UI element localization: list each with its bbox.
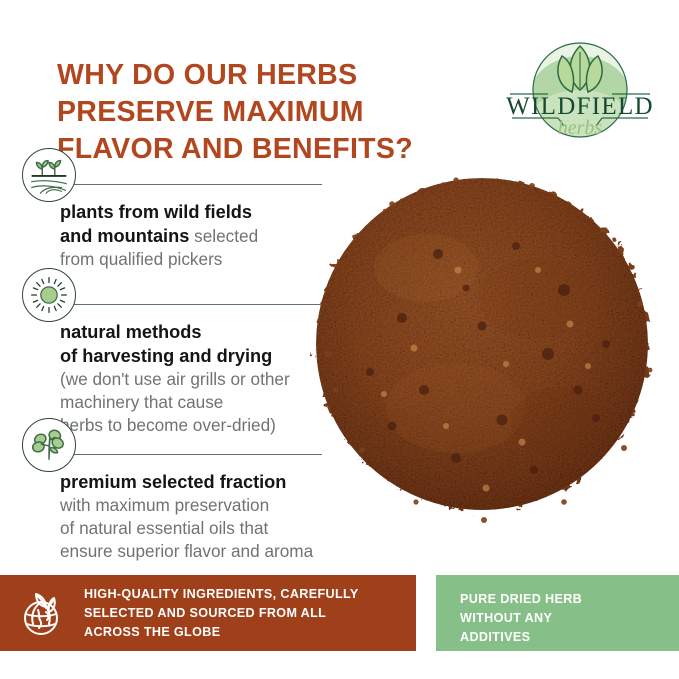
- feature-divider: [48, 454, 322, 455]
- banner-right-text: Pure dried herb without any additives: [460, 590, 669, 647]
- herb-mound-texture: [316, 178, 648, 510]
- banner-pure-dried-herb: Pure dried herb without any additives: [436, 575, 679, 651]
- banner-line: without any: [460, 609, 669, 628]
- sprouts-field-icon: [22, 148, 76, 202]
- banner-global-sourcing: High-quality ingredients, carefully sele…: [0, 575, 416, 651]
- banner-left-text: High-quality ingredients, carefully sele…: [84, 585, 359, 642]
- banner-line: additives: [460, 628, 669, 647]
- page-title: Why do our herbs preserve maximum flavor…: [57, 57, 487, 167]
- banner-line: selected and sourced from all: [84, 604, 359, 623]
- infographic-page: Why do our herbs preserve maximum flavor…: [0, 0, 679, 679]
- banner-line: High-quality ingredients, carefully: [84, 585, 359, 604]
- headline-line-1: Why do our herbs: [57, 57, 487, 94]
- logo-wordmark: WILDFIELD: [506, 93, 654, 120]
- headline-line-2: preserve maximum: [57, 94, 487, 131]
- banner-line: across the globe: [84, 623, 359, 642]
- feature-divider: [48, 184, 322, 185]
- brand-logo: WILDFIELD herbs: [500, 34, 660, 146]
- feature-divider: [48, 304, 322, 305]
- herb-powder-photo: [306, 158, 664, 558]
- sun-icon: [22, 268, 76, 322]
- herb-sprig-icon: [22, 418, 76, 472]
- banner-line: Pure dried herb: [460, 590, 669, 609]
- logo-tagline: herbs: [558, 117, 603, 139]
- globe-leaves-icon: [16, 586, 70, 640]
